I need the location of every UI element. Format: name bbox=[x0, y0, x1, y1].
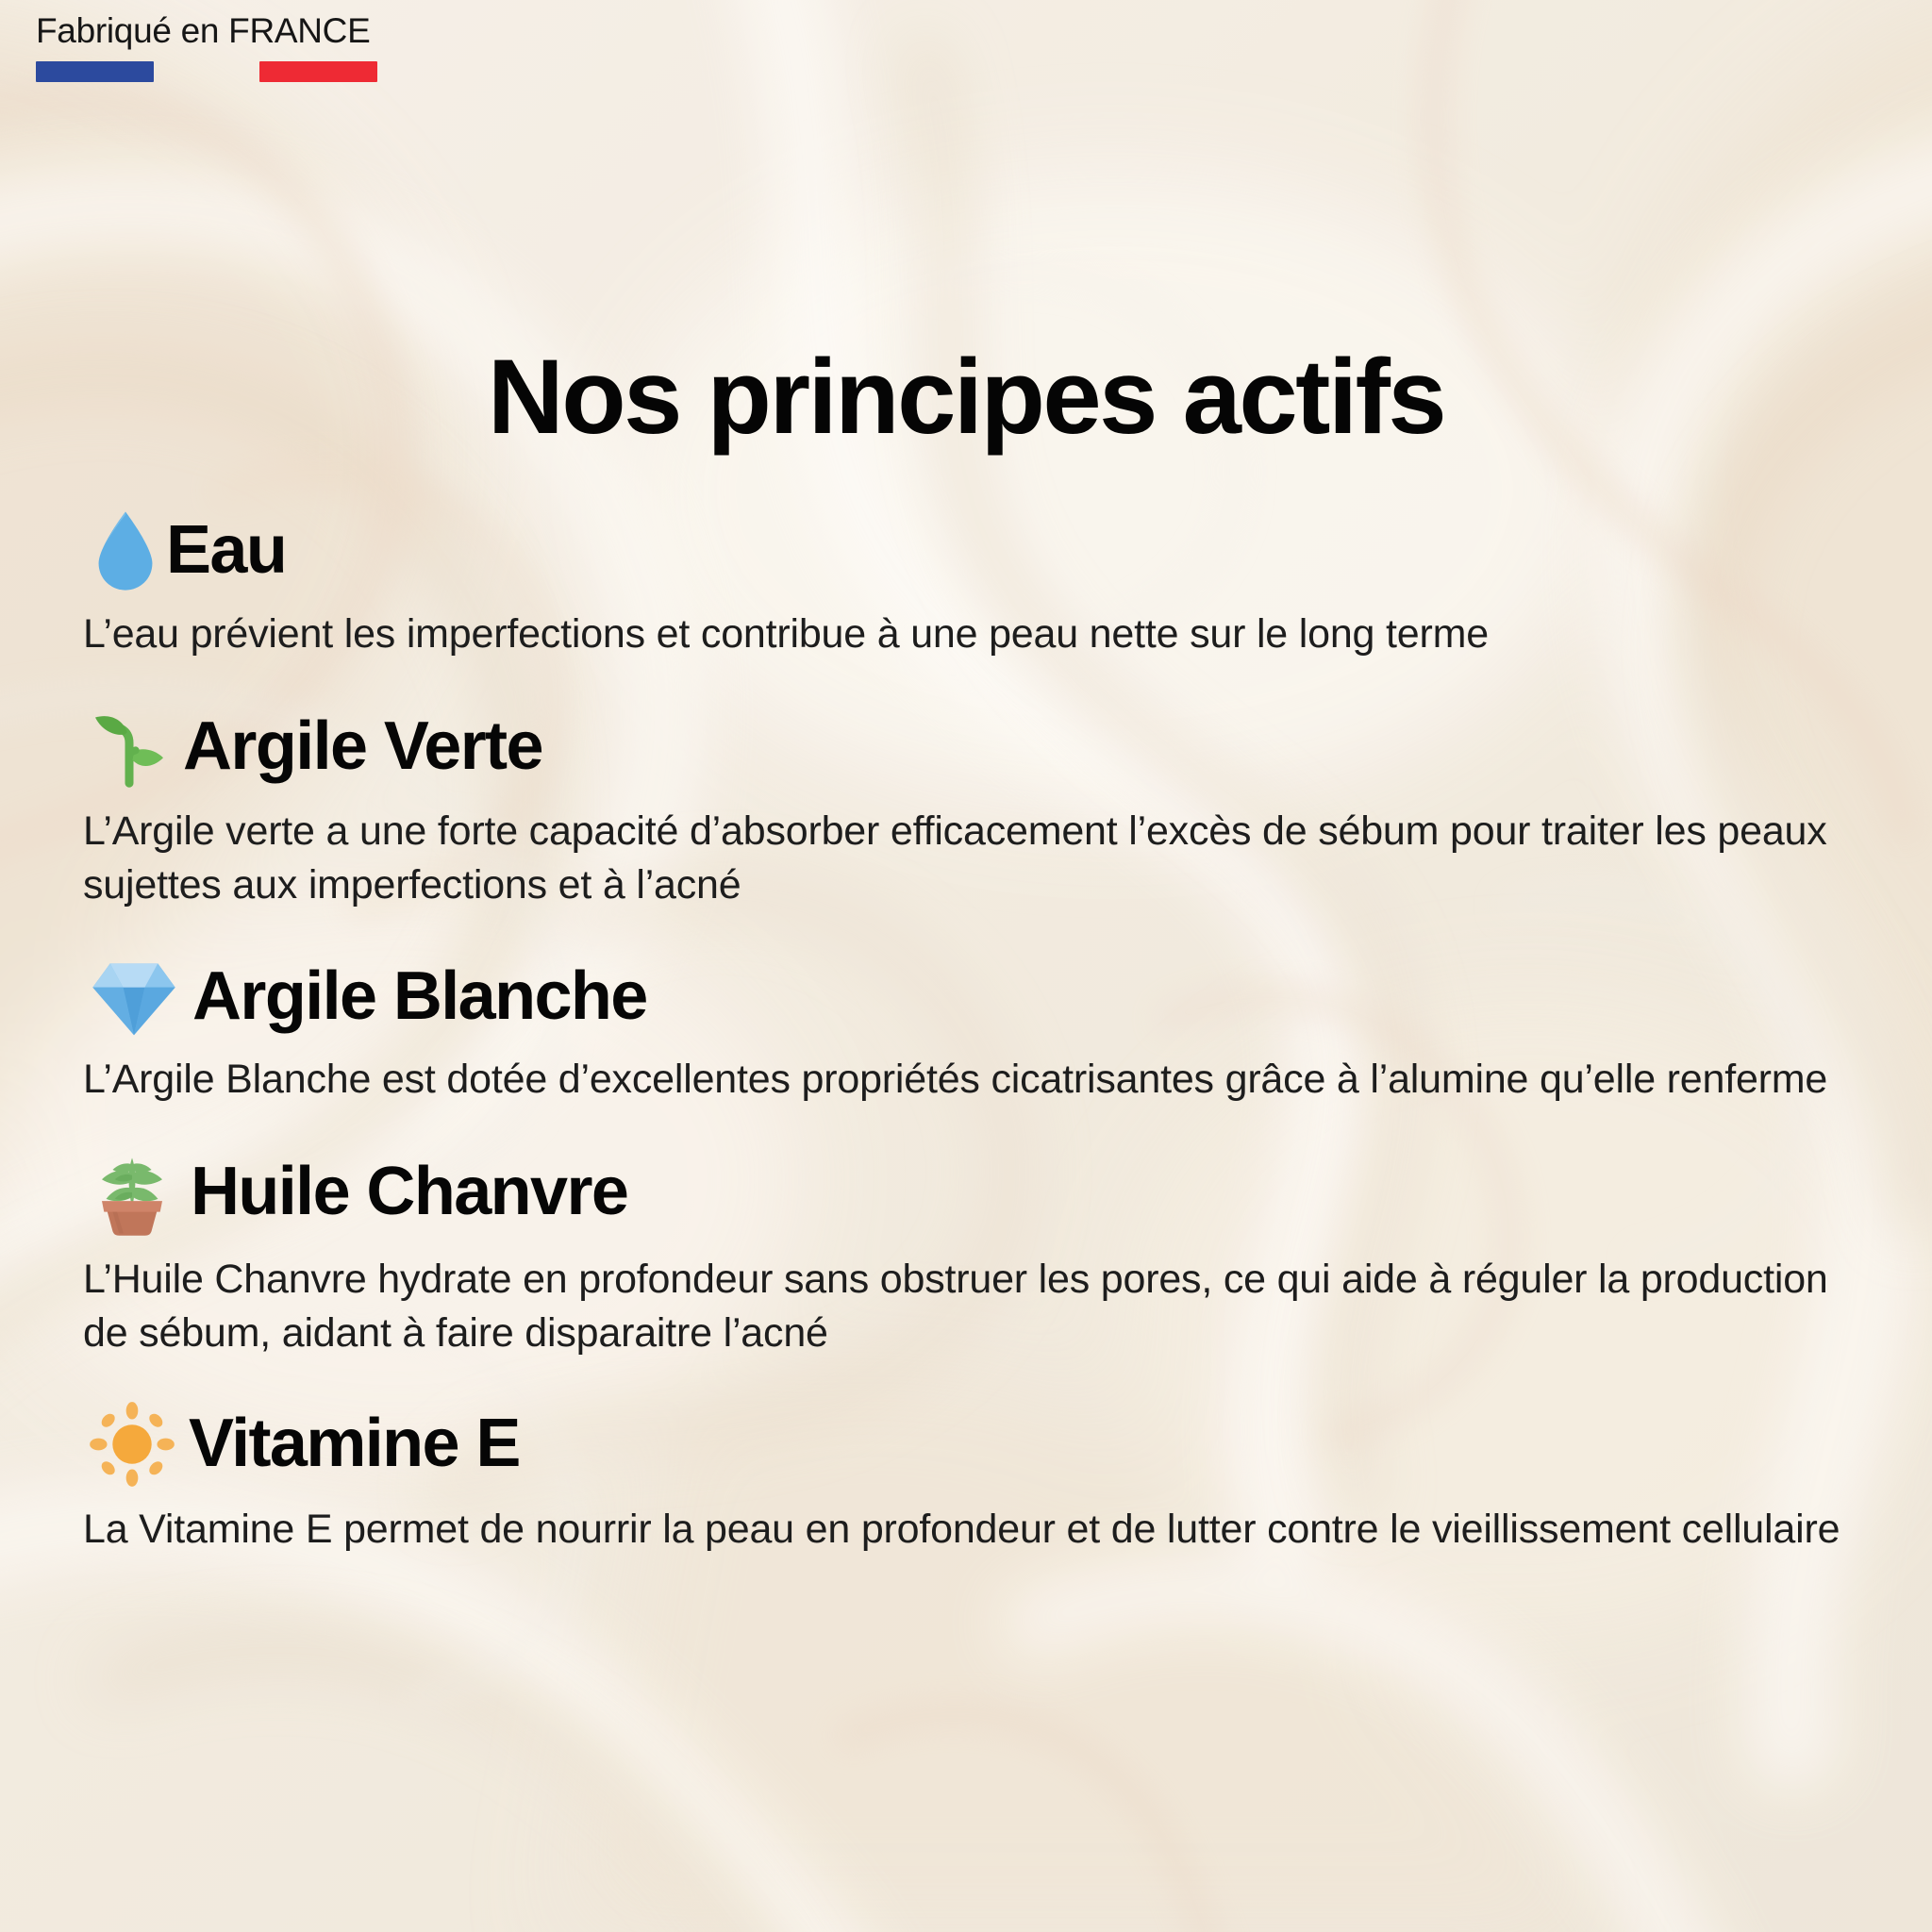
gem-stone-icon bbox=[91, 957, 177, 1038]
ingredient-heading: Vitamine E bbox=[83, 1401, 1841, 1488]
list-item: Eau L’eau prévient les imperfections et … bbox=[83, 509, 1841, 661]
ingredient-heading: Eau bbox=[83, 509, 1841, 592]
french-flag-red-bar bbox=[259, 61, 377, 82]
ingredient-description: La Vitamine E permet de nourrir la peau … bbox=[83, 1503, 1841, 1557]
sun-icon bbox=[89, 1401, 175, 1488]
ingredient-heading: Argile Blanche bbox=[83, 957, 1841, 1038]
made-in-france-badge: Fabriqué en FRANCE bbox=[36, 13, 526, 82]
ingredient-description: L’Argile Blanche est dotée d’excellentes… bbox=[83, 1053, 1841, 1107]
french-flag-blue-bar bbox=[36, 61, 154, 82]
ingredient-name: Argile Verte bbox=[183, 711, 542, 783]
french-flag bbox=[36, 61, 377, 82]
ingredient-heading: Argile Verte bbox=[83, 705, 1841, 790]
ingredient-name: Argile Blanche bbox=[192, 961, 647, 1033]
ingredient-description: L’eau prévient les imperfections et cont… bbox=[83, 608, 1841, 661]
list-item: Argile Blanche L’Argile Blanche est doté… bbox=[83, 957, 1841, 1107]
list-item: Argile Verte L’Argile verte a une forte … bbox=[83, 705, 1841, 912]
product-actives-poster: Fabriqué en FRANCE Nos principes actifs bbox=[0, 0, 1932, 1932]
water-drop-icon bbox=[92, 509, 158, 592]
page-title: Nos principes actifs bbox=[0, 344, 1932, 450]
list-item: Vitamine E La Vitamine E permet de nourr… bbox=[83, 1401, 1841, 1557]
ingredient-description: L’Argile verte a une forte capacité d’ab… bbox=[83, 805, 1841, 912]
ingredient-name: Eau bbox=[166, 515, 286, 587]
seedling-icon bbox=[87, 705, 172, 790]
ingredient-heading: Huile Chanvre bbox=[83, 1147, 1841, 1238]
ingredient-description: L’Huile Chanvre hydrate en profondeur sa… bbox=[83, 1253, 1841, 1360]
made-in-france-label: Fabriqué en FRANCE bbox=[36, 13, 526, 48]
ingredient-name: Huile Chanvre bbox=[191, 1157, 627, 1228]
ingredient-name: Vitamine E bbox=[189, 1408, 520, 1480]
list-item: Huile Chanvre L’Huile Chanvre hydrate en… bbox=[83, 1147, 1841, 1360]
actives-list: Eau L’eau prévient les imperfections et … bbox=[0, 509, 1932, 1597]
potted-plant-icon bbox=[87, 1147, 177, 1238]
